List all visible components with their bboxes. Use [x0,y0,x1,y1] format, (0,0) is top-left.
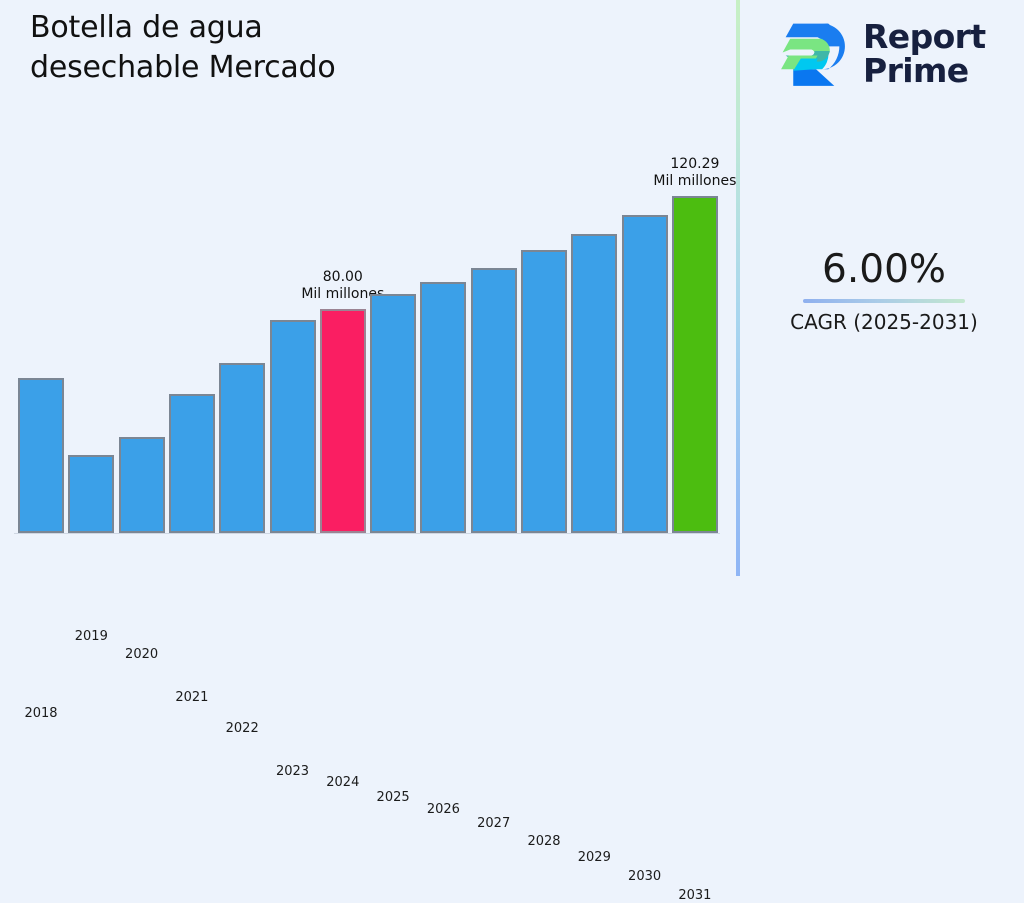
bar-value-label-2031: 120.29 Mil millones [627,156,763,190]
x-tick-2022: 2022 [209,721,275,736]
x-tick-2020: 2020 [109,647,175,662]
bar-group: 2029 [571,234,617,533]
x-tick-2026: 2026 [410,802,476,817]
bar-2019[interactable] [68,455,114,533]
bar-group: 2020 [119,437,165,533]
x-tick-2028: 2028 [511,834,577,849]
bar-group: 2030 [622,215,668,533]
x-axis-line [14,533,720,534]
bar-2031[interactable] [672,196,718,533]
cagr-value: 6.00% [752,250,1016,291]
cagr-divider [803,299,965,303]
x-tick-2019: 2019 [58,629,124,644]
bar-2023[interactable] [270,320,316,533]
bar-group: 120.29 Mil millones2031 [672,196,718,533]
bar-2030[interactable] [622,215,668,533]
bar-2018[interactable] [18,378,64,533]
x-tick-2021: 2021 [159,690,225,705]
bar-group: 2018 [18,378,64,533]
bar-2021[interactable] [169,394,215,533]
brand-wordmark: Report Prime [863,20,986,88]
bar-group: 2022 [219,363,265,533]
bar-group: 2023 [270,320,316,533]
x-tick-2029: 2029 [561,850,627,865]
bar-group: 2026 [420,282,466,533]
bar-2022[interactable] [219,363,265,533]
cagr-block: 6.00% CAGR (2025-2031) [752,250,1016,334]
bar-2029[interactable] [571,234,617,533]
x-tick-2024: 2024 [310,775,376,790]
bar-group: 80.00 Mil millones2024 [320,309,366,533]
bar-2026[interactable] [420,282,466,533]
panel-divider [736,0,740,576]
bar-2024[interactable] [320,309,366,533]
bar-group: 2028 [521,250,567,533]
report-prime-r-logo-icon [775,16,851,92]
cagr-caption: CAGR (2025-2031) [752,310,1016,334]
x-tick-2018: 2018 [8,706,74,721]
chart-page: Botella de agua desechable Mercado 20182… [0,0,1024,576]
x-tick-2031: 2031 [662,888,728,903]
x-tick-2030: 2030 [612,869,678,884]
bar-2020[interactable] [119,437,165,533]
bar-group: 2027 [471,268,517,533]
brand-logo[interactable]: Report Prime [775,12,1007,96]
bar-group: 2025 [370,294,416,533]
bar-group: 2019 [68,455,114,533]
x-tick-2027: 2027 [461,816,527,831]
chart-plot-area: 20182019202020212022202380.00 Mil millon… [0,0,736,576]
bar-group: 2021 [169,394,215,533]
bar-2025[interactable] [370,294,416,533]
bar-2028[interactable] [521,250,567,533]
bar-2027[interactable] [471,268,517,533]
